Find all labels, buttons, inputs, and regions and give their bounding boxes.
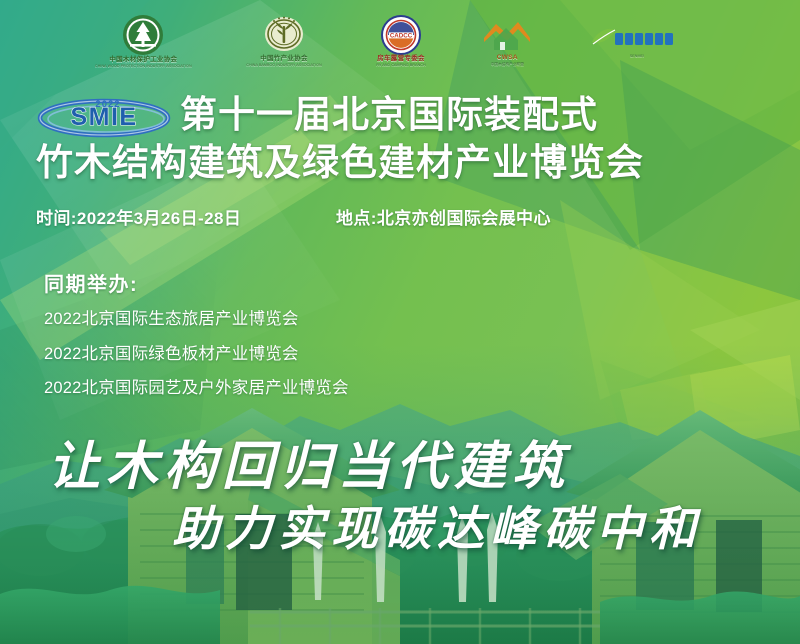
logo-senmei: SENMEI bbox=[589, 24, 685, 59]
event-meta: 时间:2022年3月26日-28日 地点:北京亦创国际会展中心 bbox=[36, 204, 766, 229]
smie-brand-logo: SMIE 2022 bbox=[36, 92, 172, 138]
bamboo-emblem-icon bbox=[263, 15, 305, 55]
event-venue: 地点:北京亦创国际会展中心 bbox=[336, 204, 551, 229]
logo-china-wood-protection-industry-association: 中国木材保护工业协会 CHINA WOOD PROTECTION INDUSTR… bbox=[95, 14, 192, 69]
logo-label: 中国木结构产业联盟 bbox=[491, 63, 524, 67]
logo-sublabel: RV AND CAMPING BRANCH bbox=[376, 64, 425, 68]
logo-label: SENMEI bbox=[630, 55, 644, 59]
title-block: SMIE 2022 第十一届北京国际装配式 竹木结构建筑及绿色建材产业博览会 bbox=[0, 92, 800, 183]
logo-china-bamboo-industry-association: 中国竹产业协会 CHINA BAMBOO INDUSTRY ASSOCIATIO… bbox=[246, 15, 321, 68]
sponsor-logo-strip: 中国木材保护工业协会 CHINA WOOD PROTECTION INDUSTR… bbox=[95, 12, 685, 70]
logo-cadcc-rv-camping-committee: CADCC 房车露营专委会 RV AND CAMPING BRANCH bbox=[376, 15, 425, 68]
logo-acronym: CWSA bbox=[497, 55, 518, 62]
concurrent-events-block: 同期举办: 2022北京国际生态旅居产业博览会 2022北京国际绿色板材产业博览… bbox=[44, 268, 349, 415]
slogan-line-2: 助力实现碳达峰碳中和 bbox=[172, 490, 702, 559]
slogan-line-1: 让木构回归当代建筑 bbox=[48, 424, 570, 499]
logo-cwsa-china-wood-structure-alliance: CWSA CWSA 中国木结构产业联盟 bbox=[480, 16, 534, 67]
title-line-1: 第十一届北京国际装配式 bbox=[180, 94, 598, 135]
concurrent-event-1: 2022北京国际生态旅居产业博览会 bbox=[44, 311, 349, 328]
concurrent-event-2: 2022北京国际绿色板材产业博览会 bbox=[44, 346, 349, 363]
leaf-icon bbox=[589, 24, 685, 54]
pine-tree-emblem-icon bbox=[122, 14, 164, 56]
cadcc-seal-icon: CADCC bbox=[381, 15, 421, 55]
concurrent-heading: 同期举办: bbox=[44, 268, 349, 297]
logo-label: 房车露营专委会 bbox=[377, 56, 425, 63]
event-time: 时间:2022年3月26日-28日 bbox=[36, 204, 336, 229]
logo-sublabel: CHINA WOOD PROTECTION INDUSTRY ASSOCIATI… bbox=[95, 65, 192, 69]
logo-label: 中国木材保护工业协会 bbox=[109, 57, 177, 64]
logo-label: 中国竹产业协会 bbox=[260, 56, 308, 63]
title-line-2: 竹木结构建筑及绿色建材产业博览会 bbox=[36, 142, 800, 183]
smie-year: 2022 bbox=[95, 99, 120, 110]
house-roof-icon: CWSA bbox=[480, 16, 534, 54]
svg-text:CADCC: CADCC bbox=[390, 32, 413, 39]
logo-sublabel: CHINA BAMBOO INDUSTRY ASSOCIATION bbox=[246, 64, 321, 68]
concurrent-event-3: 2022北京国际园艺及户外家居产业博览会 bbox=[44, 380, 349, 397]
exhibition-poster: 中国木材保护工业协会 CHINA WOOD PROTECTION INDUSTR… bbox=[0, 0, 800, 644]
